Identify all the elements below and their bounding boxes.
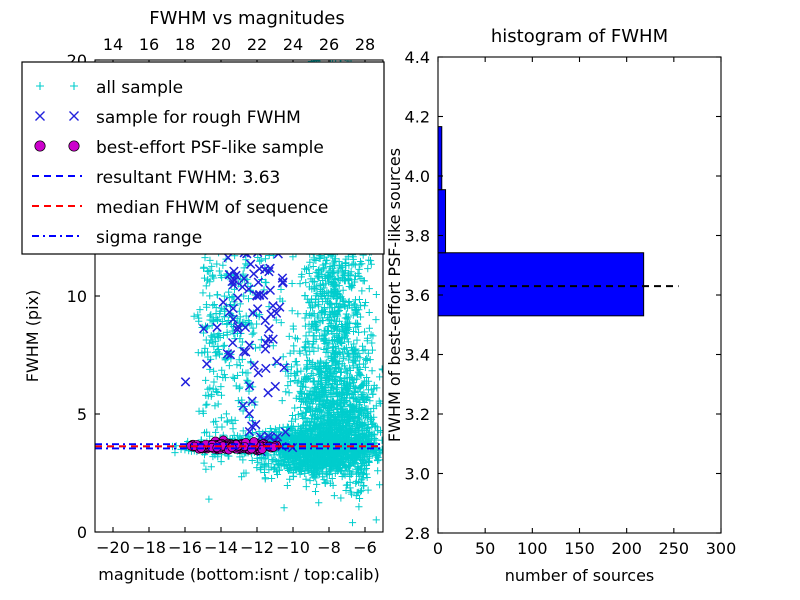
histogram-yticklabel: 4.2 (405, 108, 430, 127)
data-point-plus (270, 342, 277, 349)
data-point-plus (374, 467, 381, 474)
scatter-yticklabel: 10 (67, 287, 87, 306)
histogram-yticklabel: 3.0 (405, 465, 430, 484)
data-point-plus (282, 388, 289, 395)
data-point-plus (284, 482, 291, 489)
histogram-title: histogram of FWHM (491, 26, 668, 47)
data-point-plus (226, 362, 233, 369)
data-point-plus (219, 262, 226, 269)
data-point-plus (286, 333, 293, 340)
histogram-xticklabel: 0 (433, 539, 443, 558)
histogram-xticklabel: 300 (706, 539, 737, 558)
data-point-plus (239, 356, 246, 363)
data-point-cross (219, 298, 227, 306)
data-point-plus (361, 328, 368, 335)
scatter-xticklabel: −12 (240, 538, 274, 557)
legend-marker-dot-icon (69, 141, 79, 151)
histogram-xticklabel: 50 (475, 539, 495, 558)
data-point-plus (205, 496, 212, 503)
data-point-plus (305, 264, 312, 271)
data-point-plus (355, 503, 362, 510)
data-point-cross (254, 369, 262, 377)
data-point-plus (356, 261, 363, 268)
data-point-plus (302, 476, 309, 483)
data-point-plus (195, 318, 202, 325)
data-point-plus (344, 53, 351, 60)
figure-svg: −20−18−16−14−12−10−8−6141618202224262805… (0, 0, 800, 600)
data-point-plus (200, 459, 207, 466)
data-point-plus (262, 475, 269, 482)
data-point-plus (369, 347, 376, 354)
legend-marker-dot-icon (35, 141, 45, 151)
histogram-panel: 0501001502002503002.83.03.23.43.63.84.04… (385, 26, 736, 585)
data-point-plus (231, 375, 238, 382)
data-point-plus (331, 492, 338, 499)
data-point-plus (239, 369, 246, 376)
histogram-xticklabel: 200 (611, 539, 642, 558)
scatter-xticklabel: −20 (96, 538, 130, 557)
data-point-plus (315, 345, 322, 352)
data-point-plus (268, 475, 275, 482)
plot-legend: all samplesample for rough FWHMbest-effo… (22, 62, 384, 254)
data-point-plus (340, 287, 347, 294)
scatter-xticklabel: −14 (204, 538, 238, 557)
data-point-plus (199, 289, 206, 296)
legend-entry-label: median FHWM of sequence (96, 198, 328, 218)
data-point-plus (203, 401, 210, 408)
legend-entry-label: all sample (96, 78, 183, 98)
data-point-plus (213, 424, 220, 431)
histogram-xlabel: number of sources (505, 566, 655, 585)
data-point-plus (229, 374, 236, 381)
data-point-plus (337, 55, 344, 62)
data-point-cross (238, 283, 246, 291)
histogram-yticklabel: 3.6 (405, 286, 430, 305)
data-point-plus (368, 367, 375, 374)
data-point-plus (210, 368, 217, 375)
data-point-plus (376, 481, 383, 488)
scatter-yticklabel: 5 (77, 405, 87, 424)
data-point-plus (302, 279, 309, 286)
histogram-bar-2 (438, 127, 442, 190)
scatter-yticklabel: 0 (77, 523, 87, 542)
scatter-xticklabel: −16 (168, 538, 202, 557)
scatter-xticklabel: −6 (353, 538, 377, 557)
data-point-plus (293, 361, 300, 368)
data-point-plus (249, 325, 256, 332)
scatter-top-xticklabel: 22 (247, 35, 267, 54)
data-point-plus (214, 373, 221, 380)
data-point-plus (337, 494, 344, 501)
data-point-cross (267, 310, 275, 318)
legend-entry-label: resultant FWHM: 3.63 (96, 168, 280, 188)
histogram-yticklabel: 2.8 (405, 524, 430, 543)
data-point-cross (250, 270, 258, 278)
data-point-plus (218, 414, 225, 421)
data-point-plus (346, 52, 353, 59)
data-point-plus (218, 458, 225, 465)
data-point-plus (218, 305, 225, 312)
data-point-cross (228, 338, 236, 346)
data-point-plus (211, 301, 218, 308)
scatter-title: FWHM vs magnitudes (149, 8, 344, 29)
histogram-ylabel: FWHM of best-effort PSF-like sources (385, 148, 404, 442)
data-point-plus (203, 282, 210, 289)
data-point-plus (365, 487, 372, 494)
data-point-plus (250, 329, 257, 336)
data-point-plus (280, 504, 287, 511)
scatter-top-xticklabel: 16 (139, 35, 159, 54)
data-point-plus (302, 332, 309, 339)
data-point-plus (291, 404, 298, 411)
data-point-plus (210, 378, 217, 385)
data-point-cross (264, 389, 272, 397)
data-point-plus (237, 362, 244, 369)
data-point-plus (349, 519, 356, 526)
histogram-yticklabel: 3.8 (405, 227, 430, 246)
legend-entry-label: sample for rough FWHM (96, 108, 301, 128)
data-point-plus (373, 516, 380, 523)
data-point-plus (367, 331, 374, 338)
data-point-plus (211, 402, 218, 409)
data-point-plus (190, 313, 197, 320)
data-point-cross (213, 323, 221, 331)
scatter-top-xticklabel: 26 (319, 35, 339, 54)
figure-canvas: −20−18−16−14−12−10−8−6141618202224262805… (0, 0, 800, 600)
data-point-plus (296, 280, 303, 287)
data-point-cross (265, 325, 273, 333)
histogram-xticklabel: 100 (517, 539, 548, 558)
data-point-plus (206, 384, 213, 391)
data-point-plus (312, 488, 319, 495)
scatter-top-xticklabel: 18 (175, 35, 195, 54)
data-point-plus (285, 389, 292, 396)
data-point-plus (353, 337, 360, 344)
data-point-plus (301, 344, 308, 351)
data-point-plus (306, 329, 313, 336)
data-point-plus (236, 383, 243, 390)
histogram-yticklabel: 3.4 (405, 346, 430, 365)
data-point-plus (372, 316, 379, 323)
data-point-plus (364, 265, 371, 272)
data-point-plus (303, 310, 310, 317)
data-point-plus (206, 292, 213, 299)
scatter-top-xticklabel: 28 (355, 35, 375, 54)
data-point-plus (313, 481, 320, 488)
scatter-xticklabel: −18 (132, 538, 166, 557)
data-point-plus (216, 267, 223, 274)
data-point-plus (212, 429, 219, 436)
histogram-xticklabel: 150 (564, 539, 595, 558)
scatter-top-xticklabel: 20 (211, 35, 231, 54)
data-point-cross (262, 364, 270, 372)
data-point-plus (366, 285, 373, 292)
data-point-plus (223, 410, 230, 417)
data-point-plus (290, 342, 297, 349)
data-point-plus (215, 400, 222, 407)
data-point-plus (311, 278, 318, 285)
legend-entry-label: sigma range (96, 228, 202, 248)
scatter-xticklabel: −8 (317, 538, 341, 557)
data-point-plus (242, 369, 249, 376)
scatter-top-xticklabel: 14 (103, 35, 123, 54)
scatter-ylabel: FWHM (pix) (23, 290, 42, 383)
data-point-cross (203, 360, 211, 368)
data-point-plus (293, 358, 300, 365)
data-point-plus (350, 260, 357, 267)
data-point-plus (249, 331, 256, 338)
data-point-cross (181, 378, 189, 386)
data-point-plus (303, 483, 310, 490)
data-point-plus (297, 404, 304, 411)
data-point-plus (234, 372, 241, 379)
data-point-plus (373, 291, 380, 298)
data-point-plus (332, 55, 339, 62)
data-point-plus (366, 325, 373, 332)
scatter-xlabel: magnitude (bottom:isnt / top:calib) (98, 565, 379, 584)
histogram-bar-1 (438, 190, 446, 253)
data-point-plus (221, 342, 228, 349)
data-point-plus (333, 300, 340, 307)
data-point-plus (202, 377, 209, 384)
data-point-plus (280, 353, 287, 360)
data-point-plus (366, 309, 373, 316)
histogram-yticklabel: 3.2 (405, 405, 430, 424)
data-point-plus (214, 291, 221, 298)
data-point-plus (231, 432, 238, 439)
data-point-plus (315, 499, 322, 506)
legend-entry-label: best-effort PSF-like sample (96, 138, 324, 158)
data-point-plus (279, 397, 286, 404)
data-point-plus (288, 280, 295, 287)
scatter-xticklabel: −10 (276, 538, 310, 557)
histogram-bar-0 (438, 253, 644, 316)
histogram-xticklabel: 250 (659, 539, 690, 558)
data-point-plus (314, 273, 321, 280)
histogram-yticklabel: 4.4 (405, 48, 430, 67)
data-point-plus (376, 373, 383, 380)
legend-box (22, 62, 384, 254)
scatter-top-xticklabel: 24 (283, 35, 303, 54)
histogram-yticklabel: 4.0 (405, 167, 430, 186)
data-point-plus (358, 287, 365, 294)
